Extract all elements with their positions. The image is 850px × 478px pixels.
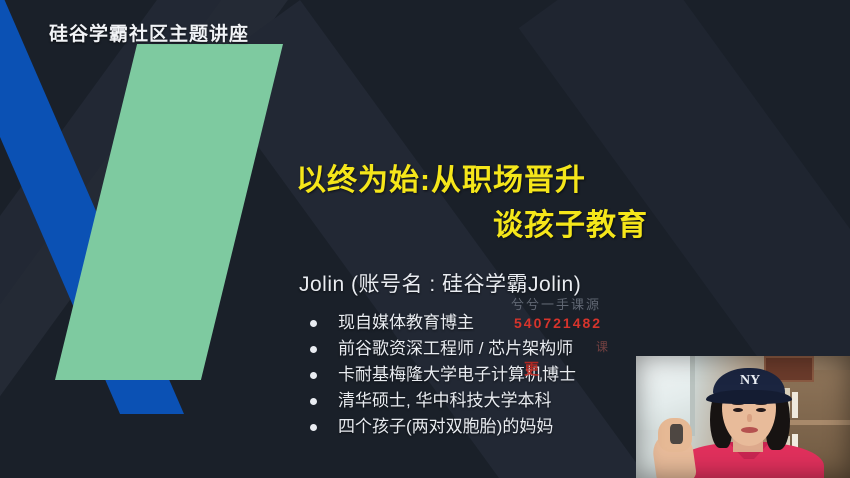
list-item: 现自媒体教育博主 [305, 310, 576, 336]
webcam-vignette [636, 356, 850, 478]
list-item: 前谷歌资深工程师 / 芯片架构师 [305, 336, 576, 362]
slide-header-title: 硅谷学霸社区主题讲座 [49, 19, 249, 46]
list-item: 清华硕士, 华中科技大学本科 [305, 388, 576, 414]
headline-line-2: 谈孩子教育 [296, 203, 686, 248]
bullet-dot-icon [310, 346, 317, 353]
bullet-dot-icon [310, 398, 317, 405]
list-item: 四个孩子(两对双胞胎)的妈妈 [305, 414, 576, 440]
slide-headline: 以终为始:从职场晋升 谈孩子教育 [296, 158, 686, 248]
bullet-dot-icon [310, 320, 317, 327]
speaker-credentials-list: 现自媒体教育博主 前谷歌资深工程师 / 芯片架构师 卡耐基梅隆大学电子计算机博士… [305, 310, 576, 440]
list-item-label: 清华硕士, 华中科技大学本科 [338, 391, 551, 410]
list-item-label: 卡耐基梅隆大学电子计算机博士 [338, 365, 576, 384]
bullet-dot-icon [310, 424, 317, 431]
list-item-label: 前谷歌资深工程师 / 芯片架构师 [338, 339, 573, 358]
webcam-video-overlay[interactable]: NY [636, 356, 850, 478]
list-item: 卡耐基梅隆大学电子计算机博士 [305, 362, 576, 388]
speaker-name-subtitle: Jolin (账号名 : 硅谷学霸Jolin) [299, 268, 581, 298]
list-item-label: 四个孩子(两对双胞胎)的妈妈 [338, 417, 553, 436]
bullet-dot-icon [310, 372, 317, 379]
presentation-slide: 硅谷学霸社区主题讲座 以终为始:从职场晋升 谈孩子教育 Jolin (账号名 :… [0, 0, 850, 478]
list-item-label: 现自媒体教育博主 [338, 313, 474, 332]
headline-line-1: 以终为始:从职场晋升 [296, 158, 686, 203]
